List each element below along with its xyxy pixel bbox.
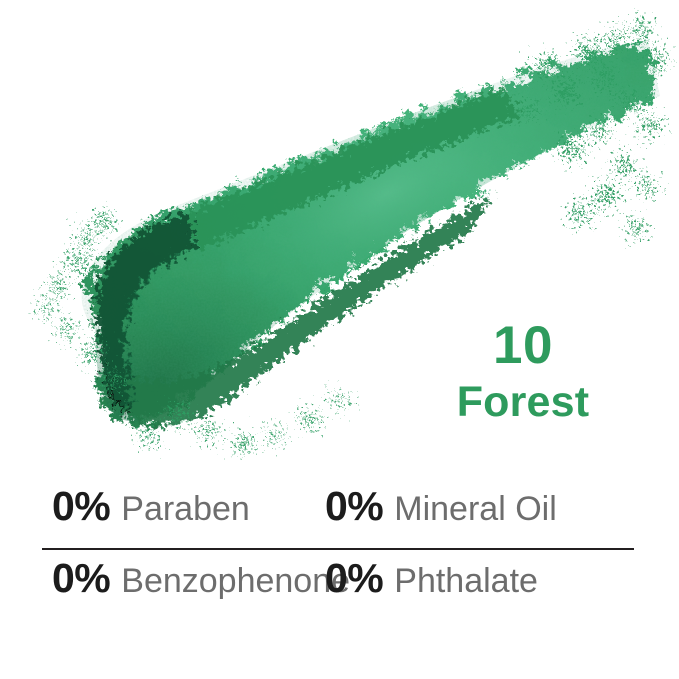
product-swatch-card: 10 Forest 0% Paraben 0% Mineral Oil 0% B…	[0, 0, 679, 679]
claims-row-1: 0% Paraben 0% Mineral Oil	[0, 470, 679, 542]
shade-caption: 10 Forest	[398, 318, 648, 427]
claim-paraben: 0% Paraben	[0, 486, 315, 527]
claim-phthalate: 0% Phthalate	[315, 558, 679, 599]
claim-label: Phthalate	[394, 564, 538, 598]
shade-name: Forest	[398, 378, 648, 427]
claim-label: Mineral Oil	[394, 492, 556, 526]
claim-value: 0%	[325, 486, 383, 527]
claim-value: 0%	[52, 558, 110, 599]
claim-label: Paraben	[121, 492, 250, 526]
claim-value: 0%	[325, 558, 383, 599]
claim-benzophenone: 0% Benzophenone	[0, 558, 315, 599]
free-from-claims: 0% Paraben 0% Mineral Oil 0% Benzophenon…	[0, 470, 679, 645]
claim-mineral-oil: 0% Mineral Oil	[315, 486, 679, 527]
claims-divider	[42, 548, 634, 550]
swatch-image: 10 Forest	[0, 0, 679, 460]
shade-number: 10	[398, 318, 648, 374]
claim-value: 0%	[52, 486, 110, 527]
claims-row-2: 0% Benzophenone 0% Phthalate	[0, 542, 679, 614]
